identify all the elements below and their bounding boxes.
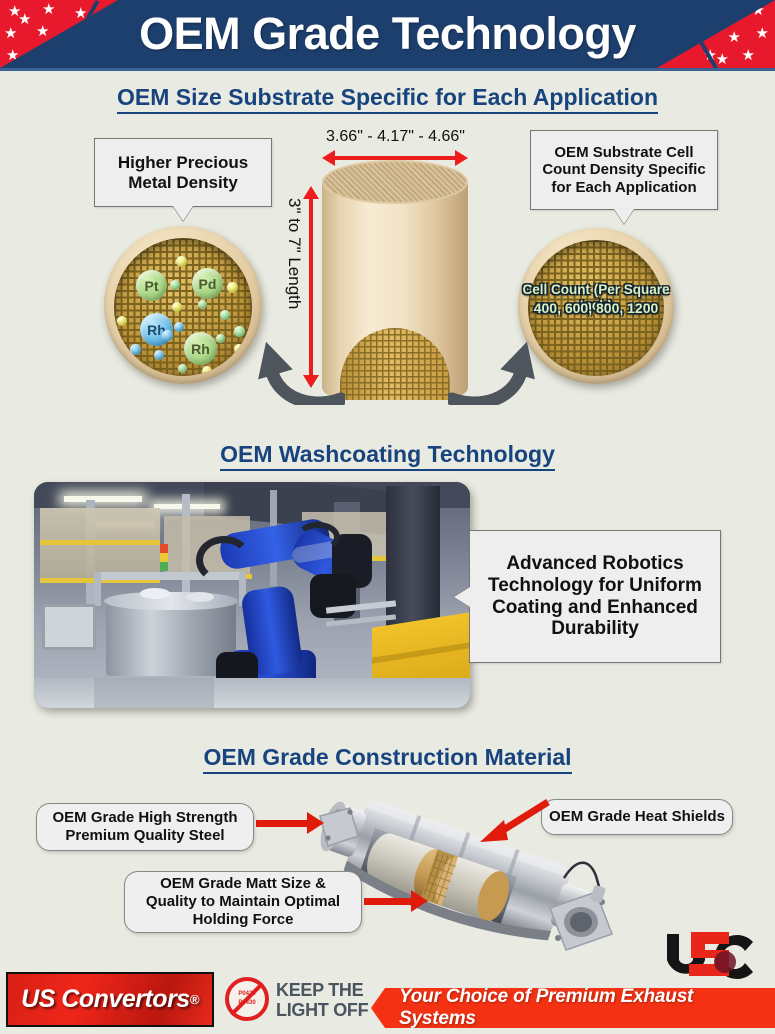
pointer-red-arrow-matt	[364, 898, 412, 905]
us-convertors-logo-badge: US Convertors®	[6, 972, 214, 1027]
section-title-washcoating: OEM Washcoating Technology	[0, 441, 775, 468]
callout-line: Quality to Maintain Optimal	[146, 893, 340, 911]
callout-tail-icon	[614, 209, 634, 224]
particle-dot	[176, 256, 187, 267]
particle-dot	[117, 316, 127, 326]
section-title-washcoating-text: OEM Washcoating Technology	[220, 441, 555, 471]
section-title-construction: OEM Grade Construction Material	[0, 744, 775, 771]
pointer-arrow-right	[448, 335, 548, 405]
callout-line: Holding Force	[193, 911, 294, 929]
pointer-red-arrow-heatshield	[478, 796, 550, 846]
callout-advanced-robotics: Advanced Robotics Technology for Uniform…	[469, 530, 721, 663]
callout-line: Coating and Enhanced	[492, 597, 698, 619]
callout-line: Premium Quality Steel	[65, 827, 224, 845]
photo-scene	[34, 482, 470, 708]
prohibition-slash-icon	[230, 982, 264, 1016]
callout-higher-precious-metal-density: Higher Precious Metal Density	[94, 138, 272, 207]
particle-dot	[154, 350, 164, 360]
arrow-head-icon	[411, 890, 428, 912]
brand-name: US Convertors	[21, 985, 190, 1014]
tagline-banner: Your Choice of Premium Exhaust Systems	[371, 988, 775, 1028]
pointer-red-arrow-steel	[256, 820, 308, 827]
callout-line: Count Density Specific	[542, 161, 705, 178]
particle-dot	[234, 326, 245, 337]
dimension-width-arrow	[334, 156, 456, 160]
particle-dot	[130, 344, 141, 355]
callout-line: for Each Application	[551, 179, 696, 196]
particle-dot	[198, 300, 207, 309]
dtc-code-p0420: P0420	[229, 991, 265, 998]
page-header: ★ ★ ★ ★ ★ ★ ★ ★ ★ ★ ★ ★ ★ ★ ★ ★ ★ OEM Gr…	[0, 0, 775, 68]
callout-tail-icon	[454, 587, 470, 607]
particle-dot	[202, 366, 212, 376]
pointer-arrow-left	[245, 335, 345, 405]
dimension-width-label: 3.66" - 4.17" - 4.66"	[313, 128, 478, 146]
header-divider	[0, 68, 775, 71]
infographic-page: ★ ★ ★ ★ ★ ★ ★ ★ ★ ★ ★ ★ ★ ★ ★ ★ ★ OEM Gr…	[0, 0, 775, 1034]
callout-line: OEM Substrate Cell	[554, 144, 693, 161]
metal-marker-pd: Pd	[192, 268, 223, 299]
callout-tail-icon	[173, 206, 193, 221]
cell-count-values: 400, 600, 800, 1200	[518, 300, 674, 316]
substrate-cross-section-precious-metals: Pt Pd Rh Rh	[104, 226, 262, 384]
particle-dot	[162, 330, 173, 341]
particle-dot	[146, 370, 157, 376]
section-title-construction-text: OEM Grade Construction Material	[203, 744, 571, 774]
keep-light-off-line2: LIGHT OFF	[276, 1001, 368, 1020]
metal-marker-pt: Pt	[136, 270, 167, 301]
metal-marker-rh-green: Rh	[184, 332, 217, 365]
tagline-text: Your Choice of Premium Exhaust Systems	[399, 986, 775, 1030]
callout-high-strength-steel: OEM Grade High Strength Premium Quality …	[36, 803, 254, 851]
callout-heat-shields: OEM Grade Heat Shields	[541, 799, 733, 835]
particle-dot	[170, 280, 180, 290]
particle-dot	[234, 344, 244, 354]
dtc-code-p0430: P0430	[229, 1000, 265, 1007]
section-title-substrate-text: OEM Size Substrate Specific for Each App…	[117, 84, 658, 114]
callout-oem-substrate-cell-count: OEM Substrate Cell Count Density Specifi…	[530, 130, 718, 210]
callout-line: OEM Grade High Strength	[52, 809, 237, 827]
callout-matt-size-quality: OEM Grade Matt Size & Quality to Maintai…	[124, 871, 362, 933]
us-convertors-wordmark: US Convertors®	[8, 974, 212, 1025]
honeycomb-mesh: Pt Pd Rh Rh	[114, 238, 252, 376]
callout-line: Advanced Robotics	[506, 553, 683, 575]
callout-line: Higher Precious	[118, 153, 248, 173]
cylinder-top-face	[322, 160, 468, 204]
particle-dot	[216, 334, 225, 343]
keep-light-off-line1: KEEP THE	[276, 981, 363, 1000]
particle-dot	[174, 322, 184, 332]
particle-dot	[172, 302, 182, 312]
callout-line: Metal Density	[128, 173, 238, 193]
logo-accent-circle	[714, 951, 736, 973]
section-title-substrate: OEM Size Substrate Specific for Each App…	[0, 84, 775, 111]
particle-dot	[227, 282, 238, 293]
callout-line: OEM Grade Matt Size &	[160, 875, 326, 893]
washcoating-robot-photo	[34, 482, 470, 708]
particle-dot	[178, 364, 187, 373]
check-engine-light-off-icon: P0420 P0430	[225, 977, 269, 1021]
particle-dot	[220, 310, 230, 320]
registered-mark: ®	[190, 992, 199, 1007]
callout-line: Durability	[551, 618, 639, 640]
page-title: OEM Grade Technology	[0, 0, 775, 68]
arrow-head-icon	[307, 812, 324, 834]
usc-logo	[661, 930, 759, 982]
callout-line: Technology for Uniform	[488, 575, 702, 597]
